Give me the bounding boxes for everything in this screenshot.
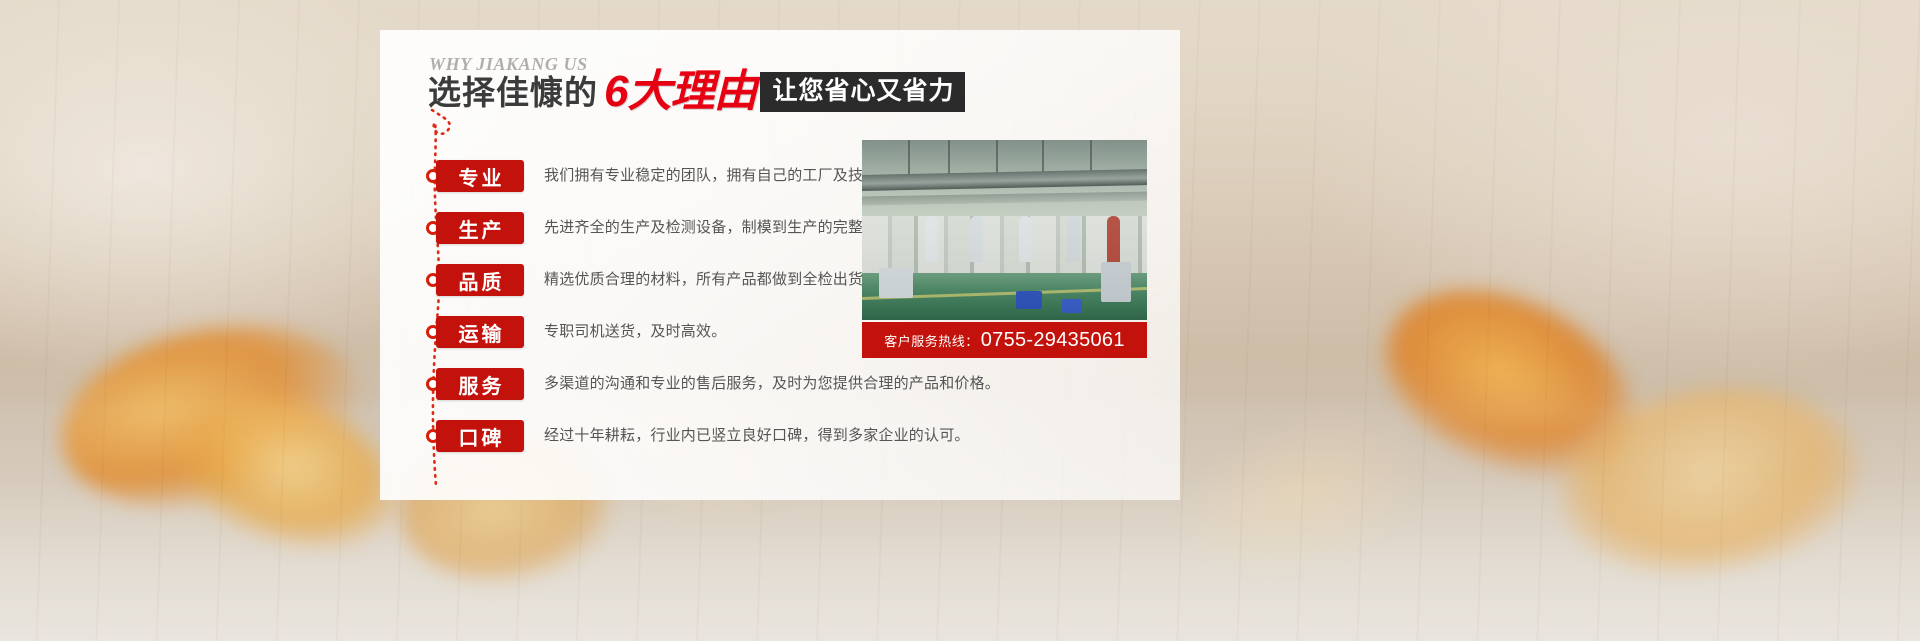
reason-badge: 生产 [436, 212, 524, 244]
reason-badge: 运输 [436, 316, 524, 348]
reason-description: 多渠道的沟通和专业的售后服务，及时为您提供合理的产品和价格。 [544, 372, 1000, 396]
reason-description: 经过十年耕耘，行业内已竖立良好口碑，得到多家企业的认可。 [544, 424, 970, 448]
photo-shading [862, 140, 1147, 320]
factory-photo [862, 140, 1147, 320]
reason-description: 先进齐全的生产及检测设备，制模到生产的完整工艺。 [544, 216, 909, 240]
hotline-number: 0755-29435061 [981, 329, 1125, 352]
title-lead: 选择佳慷的 [428, 74, 598, 112]
reason-description: 我们拥有专业稳定的团队，拥有自己的工厂及技术。 [544, 164, 894, 188]
list-item[interactable]: 口碑 经过十年耕耘，行业内已竖立良好口碑，得到多家企业的认可。 [436, 420, 996, 472]
title-highlight: 6大理由 [604, 72, 756, 112]
hotline-label: 客户服务热线： [884, 331, 979, 350]
list-item[interactable]: 服务 多渠道的沟通和专业的售后服务，及时为您提供合理的产品和价格。 [436, 368, 996, 420]
photo-content [862, 140, 1147, 320]
reason-badge: 专业 [436, 160, 524, 192]
title-row: 选择佳慷的 6大理由 让您省心又省力 [428, 72, 965, 112]
title-slab: 让您省心又省力 [760, 72, 964, 112]
hotline-bar[interactable]: 客户服务热线： 0755-29435061 [862, 322, 1147, 358]
reason-badge: 服务 [436, 368, 524, 400]
reason-badge: 口碑 [436, 420, 524, 452]
reason-badge: 品质 [436, 264, 524, 296]
reason-description: 精选优质合理的材料，所有产品都做到全检出货。 [544, 268, 878, 292]
reason-description: 专职司机送货，及时高效。 [544, 320, 726, 344]
